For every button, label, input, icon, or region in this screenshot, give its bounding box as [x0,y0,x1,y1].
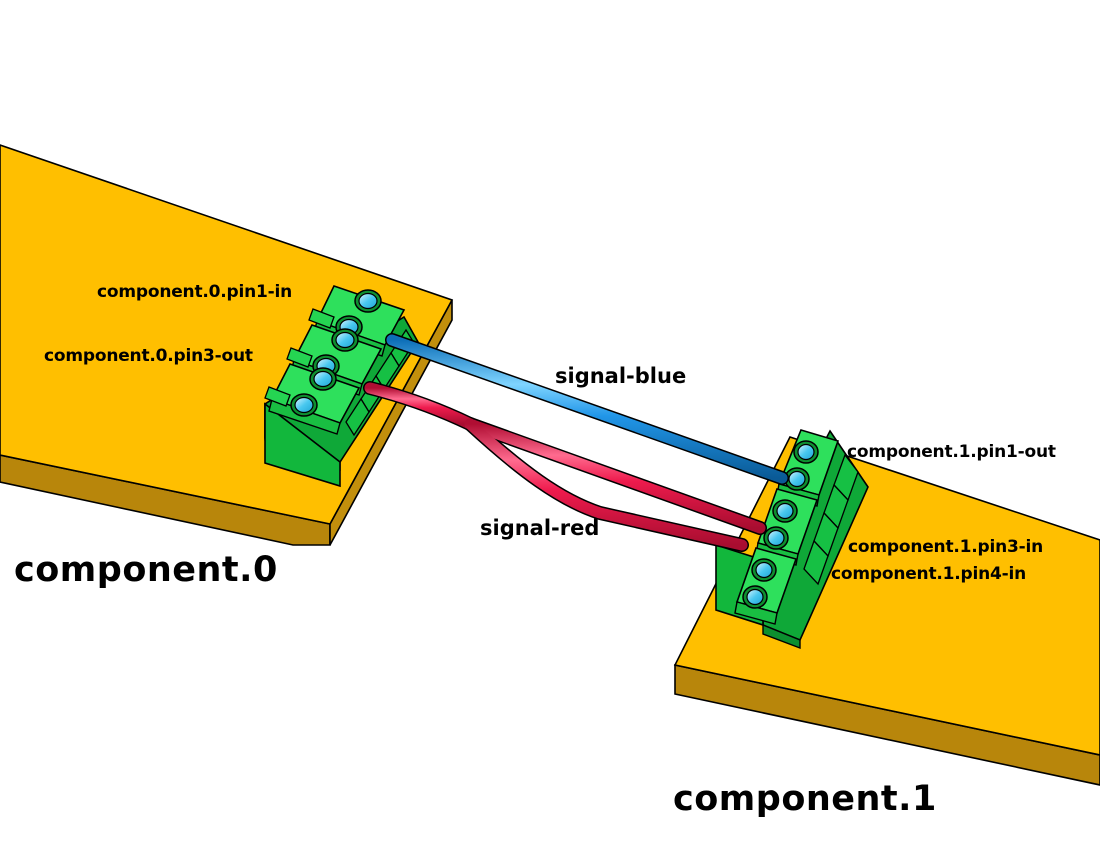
screw-head-1 [359,294,377,309]
screw-head-c1-2 [789,472,805,487]
screw-head-3 [336,333,354,348]
screw-head-c1-3 [777,504,793,519]
label-component-1-pin1-out: component.1.pin1-out [847,444,1056,461]
screw-head-c1-1 [798,445,814,460]
screw-head-6 [295,398,313,413]
label-component-1-pin3-in: component.1.pin3-in [848,539,1043,556]
screw-head-c1-6 [747,590,763,605]
label-signal-red: signal-red [480,518,599,539]
pcb-scene-svg [0,0,1100,850]
label-component-0-pin1-in: component.0.pin1-in [97,284,292,301]
title-component-1: component.1 [673,782,937,817]
screw-head-c1-4 [768,531,784,546]
screw-head-5 [314,372,332,387]
screw-head-c1-5 [756,563,772,578]
title-component-0: component.0 [14,553,278,588]
label-component-0-pin3-out: component.0.pin3-out [44,348,253,365]
label-signal-blue: signal-blue [555,366,686,387]
diagram-canvas: component.0.pin1-in component.0.pin3-out… [0,0,1100,850]
label-component-1-pin4-in: component.1.pin4-in [831,566,1026,583]
